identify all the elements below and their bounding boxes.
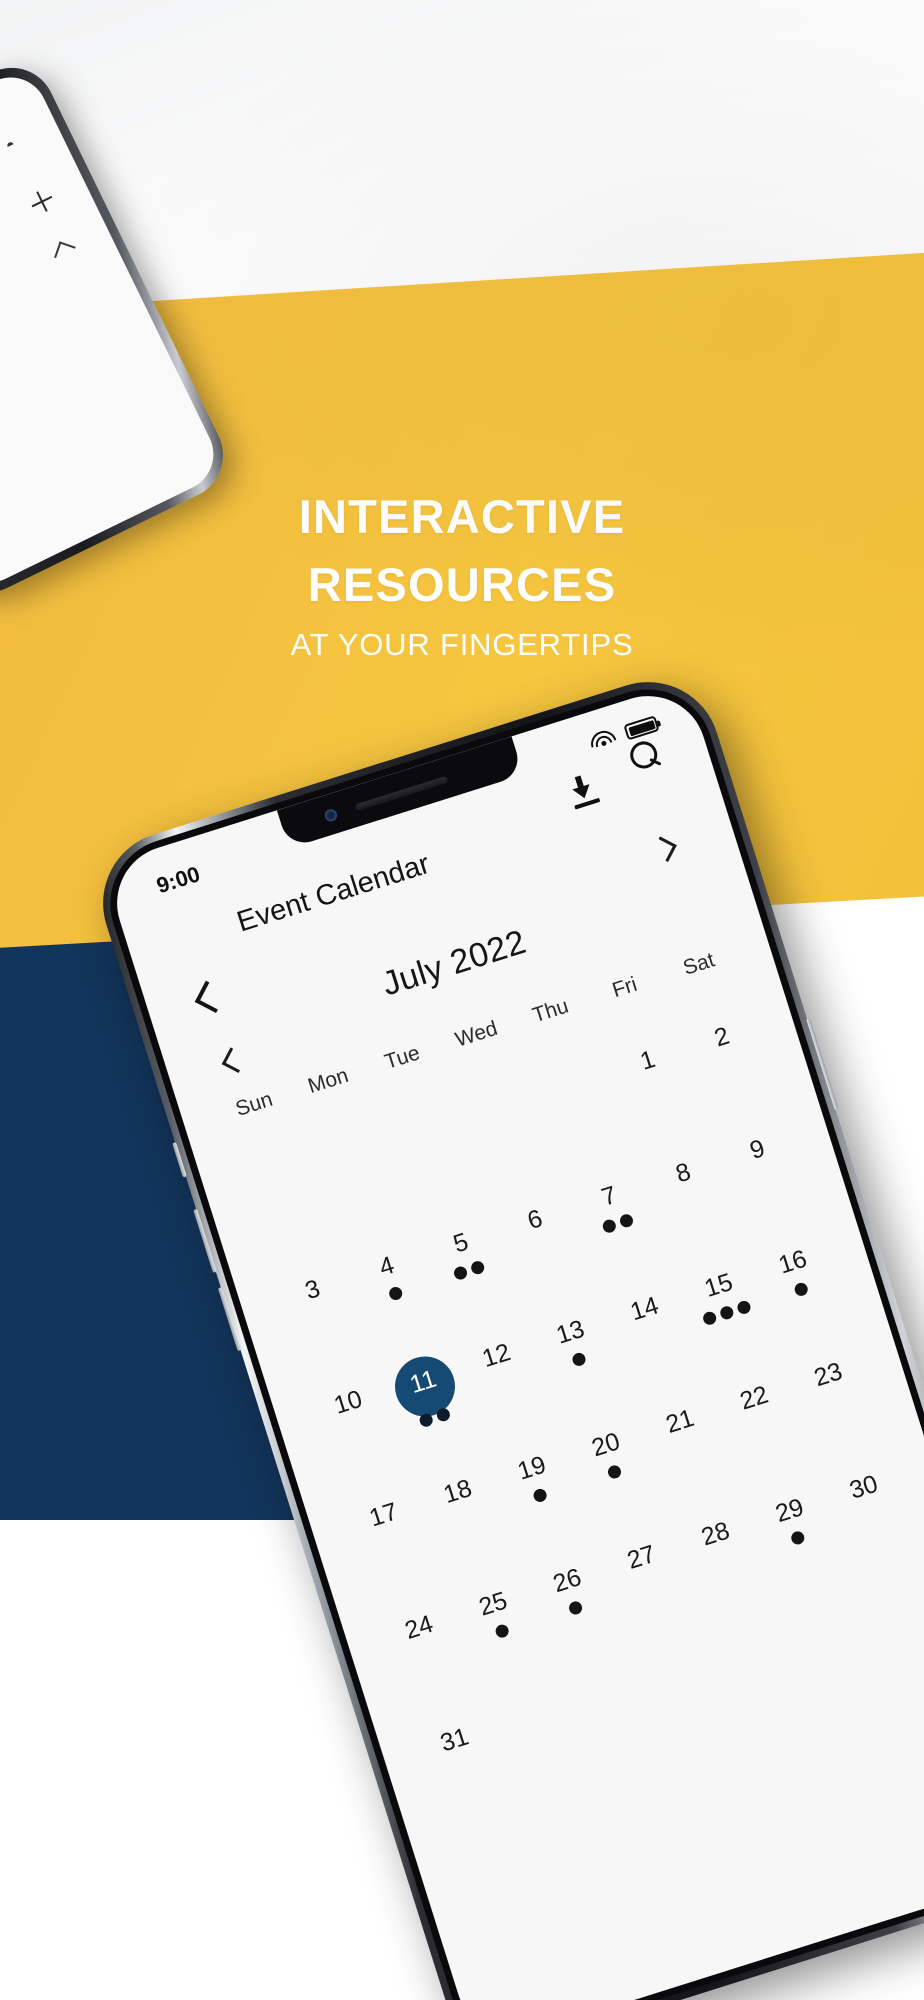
event-dots [606,1464,622,1480]
weekday-mon: Mon [288,1058,375,1123]
event-dot [532,1487,548,1503]
event-dots [790,1530,806,1546]
event-dot [418,1412,434,1428]
event-dot [494,1623,510,1639]
chevron-left-icon[interactable] [195,981,227,1013]
day-number: 22 [737,1382,771,1414]
event-dot [470,1259,486,1275]
day-number: 9 [747,1136,768,1164]
next-month-button[interactable] [651,836,677,862]
day-number: 24 [402,1612,436,1644]
subheadline: AT YOUR FINGERTIPS [0,619,924,671]
weekday-wed: Wed [436,1012,523,1077]
headline-block: INTERACTIVE RESOURCES AT YOUR FINGERTIPS [0,483,924,671]
day-number: 7 [599,1183,620,1211]
day-number: 1 [637,1047,658,1075]
event-dots [453,1259,486,1281]
event-dots [494,1623,510,1639]
event-dots [793,1281,809,1297]
event-dots [571,1351,587,1367]
day-number: 18 [441,1476,475,1508]
event-dots [702,1299,753,1326]
event-dot [719,1305,735,1321]
download-icon[interactable] [564,772,602,812]
weekday-sun: Sun [214,1082,301,1147]
day-number: 28 [699,1518,733,1550]
day-number: 19 [515,1453,549,1485]
event-dots [568,1600,584,1616]
weekday-fri: Fri [584,965,671,1030]
day-number: 12 [479,1340,513,1372]
event-dot [571,1351,587,1367]
event-dot [435,1407,451,1423]
day-number: 17 [367,1499,401,1531]
day-number: 21 [663,1406,697,1438]
day-number: 26 [550,1565,584,1597]
headline-line-1: INTERACTIVE [0,483,924,551]
status-time: 9:00 [153,861,203,899]
day-number: 25 [476,1588,510,1620]
day-number: 10 [331,1387,365,1419]
weekday-sat: Sat [658,941,745,1006]
day-number: 3 [302,1276,323,1304]
event-dot [387,1285,403,1301]
day-number: 6 [525,1206,546,1234]
event-dot [568,1600,584,1616]
day-number: 16 [776,1246,810,1278]
promo-canvas: ◓ INTERACTIVE RESOURCES AT YOUR FINGERTI… [0,0,924,2000]
day-number: 15 [702,1270,736,1302]
plus-icon[interactable] [27,187,56,216]
day-number: 20 [589,1429,623,1461]
event-dot [790,1530,806,1546]
day-number: 4 [376,1253,397,1281]
event-dots [387,1285,403,1301]
day-number: 23 [811,1359,845,1391]
weekday-tue: Tue [362,1035,449,1100]
weekday-thu: Thu [510,988,597,1053]
event-dot [618,1213,634,1229]
chevron-up-icon[interactable] [54,241,76,263]
event-dot [601,1218,617,1234]
day-number: 8 [673,1159,694,1187]
day-number: 31 [438,1724,472,1756]
event-dot [606,1464,622,1480]
event-dot [736,1299,752,1315]
day-number: 30 [847,1472,881,1504]
event-dots [532,1487,548,1503]
wifi-icon: ◓ [3,136,19,155]
event-dot [702,1310,718,1326]
day-number: 29 [773,1495,807,1527]
headline-line-2: RESOURCES [0,551,924,619]
event-dot [793,1281,809,1297]
event-dot [453,1265,469,1281]
day-number: 5 [451,1230,472,1258]
day-number: 14 [628,1293,662,1325]
day-number: 27 [625,1542,659,1574]
event-dots [601,1213,634,1235]
wifi-icon [589,728,617,752]
day-number: 13 [554,1317,588,1349]
day-number: 2 [712,1024,733,1052]
